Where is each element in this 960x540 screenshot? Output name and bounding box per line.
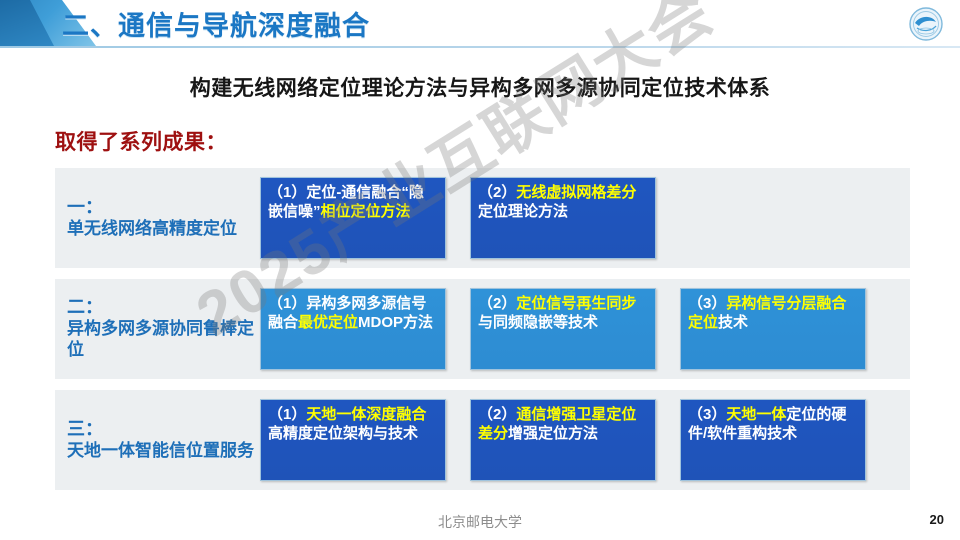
row-label: 一：单无线网络高精度定位	[55, 197, 260, 240]
bupt-logo-icon	[908, 6, 944, 42]
achievement-box[interactable]: （3）天地一体定位的硬件/软件重构技术	[680, 399, 866, 481]
header-divider	[0, 46, 960, 48]
achievement-box[interactable]: （2）定位信号再生同步与同频隐嵌等技术	[470, 288, 656, 370]
row-label-text: 天地一体智能信位置服务	[67, 441, 254, 460]
achievement-index: （1）	[268, 295, 306, 312]
achievement-index: （3）	[688, 295, 726, 312]
slide-subtitle: 构建无线网络定位理论方法与异构多网多源协同定位技术体系	[0, 72, 960, 102]
achievements-matrix: 一：单无线网络高精度定位（1）定位-通信融合“隐嵌信噪”相位定位方法（2）无线虚…	[55, 168, 910, 490]
achievement-text: 技术	[718, 314, 748, 331]
matrix-row: 三：天地一体智能信位置服务（1）天地一体深度融合高精度定位架构与技术（2）通信增…	[55, 390, 910, 490]
slide-page-number: 20	[930, 512, 944, 527]
row-boxes: （1）定位-通信融合“隐嵌信噪”相位定位方法（2）无线虚拟网格差分定位理论方法	[260, 168, 910, 268]
row-label: 三：天地一体智能信位置服务	[55, 419, 260, 462]
achievement-box[interactable]: （1）定位-通信融合“隐嵌信噪”相位定位方法	[260, 177, 446, 259]
row-label: 二：异构多网多源协同鲁棒定位	[55, 297, 260, 360]
row-boxes: （1）异构多网多源信号融合最优定位MDOP方法（2）定位信号再生同步与同频隐嵌等…	[260, 279, 910, 379]
achievement-box[interactable]: （2）通信增强卫星定位差分增强定位方法	[470, 399, 656, 481]
achievement-box[interactable]: （1）异构多网多源信号融合最优定位MDOP方法	[260, 288, 446, 370]
achievement-index: （1）	[268, 406, 306, 423]
achievement-text-highlight: 相位定位方法	[321, 203, 411, 220]
achievement-box[interactable]: （2）无线虚拟网格差分定位理论方法	[470, 177, 656, 259]
achievement-index: （3）	[688, 406, 726, 423]
achievement-text: 与同频隐嵌等技术	[478, 314, 598, 331]
achievement-index: （2）	[478, 295, 516, 312]
achievement-index: （2）	[478, 184, 516, 201]
achievement-box[interactable]: （1）天地一体深度融合高精度定位架构与技术	[260, 399, 446, 481]
achievement-text-highlight: 最优定位	[298, 314, 358, 331]
achievement-text-highlight: 天地一体深度融合	[306, 406, 426, 423]
matrix-row: 二：异构多网多源协同鲁棒定位（1）异构多网多源信号融合最优定位MDOP方法（2）…	[55, 279, 910, 379]
row-boxes: （1）天地一体深度融合高精度定位架构与技术（2）通信增强卫星定位差分增强定位方法…	[260, 390, 910, 490]
achievement-index: （2）	[478, 406, 516, 423]
achievement-box[interactable]: （3）异构信号分层融合定位技术	[680, 288, 866, 370]
achievement-text-highlight: 天地一体	[726, 406, 786, 423]
achievement-text: 定位理论方法	[478, 203, 568, 220]
achievement-text-highlight: 定位信号再生同步	[516, 295, 636, 312]
achievement-text: 高精度定位架构与技术	[268, 425, 418, 442]
row-label-text: 异构多网多源协同鲁棒定位	[67, 319, 254, 359]
achievement-index: （1）	[268, 184, 306, 201]
achievement-text-highlight: 无线虚拟网格差分	[516, 184, 636, 201]
row-number: 二：	[67, 297, 260, 319]
row-number: 一：	[67, 197, 260, 219]
achievement-text: 增强定位方法	[508, 425, 598, 442]
row-number: 三：	[67, 419, 260, 441]
matrix-row: 一：单无线网络高精度定位（1）定位-通信融合“隐嵌信噪”相位定位方法（2）无线虚…	[55, 168, 910, 268]
results-heading: 取得了系列成果：	[55, 126, 227, 156]
footer-school-name: 北京邮电大学	[0, 512, 960, 532]
row-label-text: 单无线网络高精度定位	[67, 219, 237, 238]
slide-header: 二、通信与导航深度融合	[0, 0, 960, 52]
page-title: 二、通信与导航深度融合	[62, 4, 370, 43]
achievement-text: MDOP方法	[358, 314, 433, 331]
